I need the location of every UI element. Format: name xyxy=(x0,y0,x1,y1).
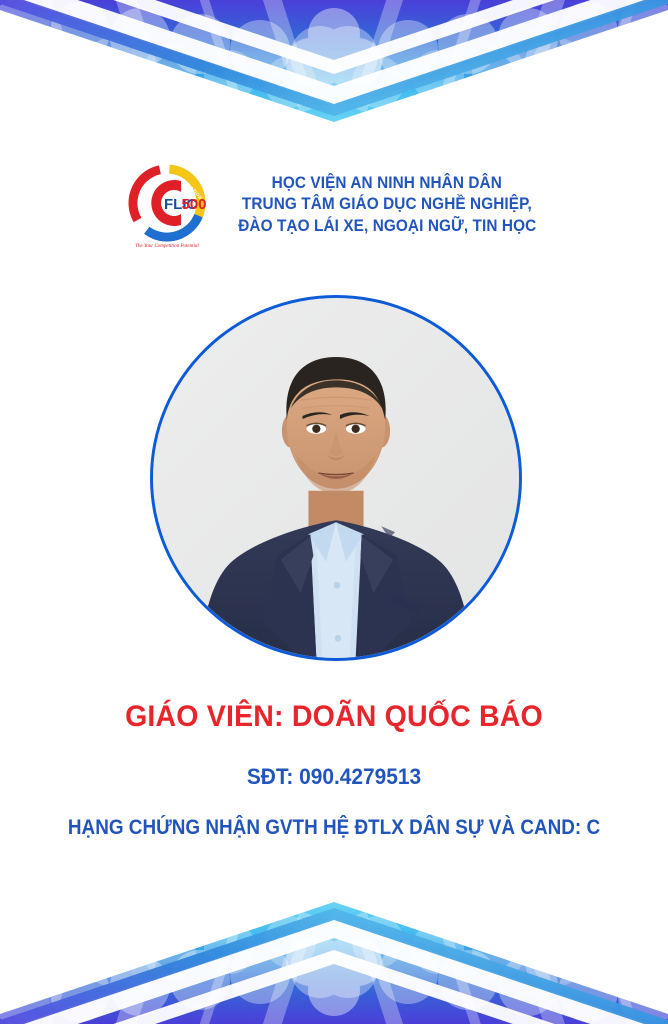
portrait-frame xyxy=(150,295,522,661)
flic500-logo: VOCATIONAL EDUCATION INFORMATION TECHNOL… xyxy=(121,159,213,251)
svg-text:The Your Competition Potential: The Your Competition Potential xyxy=(135,244,199,249)
decoration-top xyxy=(0,0,668,140)
svg-text:500: 500 xyxy=(181,196,206,213)
portrait-ring xyxy=(150,295,522,661)
phone-number: SĐT: 090.4279513 xyxy=(17,765,652,789)
org-line-3: ĐÀO TẠO LÁI XE, NGOẠI NGỮ, TIN HỌC xyxy=(238,216,536,237)
poster-canvas: VOCATIONAL EDUCATION INFORMATION TECHNOL… xyxy=(0,0,668,1024)
header: VOCATIONAL EDUCATION INFORMATION TECHNOL… xyxy=(0,150,668,260)
org-line-1: HỌC VIỆN AN NINH NHÂN DÂN xyxy=(272,173,502,194)
info-block: GIÁO VIÊN: DOÃN QUỐC BÁO SĐT: 090.427951… xyxy=(0,700,668,840)
teacher-name: GIÁO VIÊN: DOÃN QUỐC BÁO xyxy=(17,700,652,733)
decoration-bottom xyxy=(0,884,668,1024)
organization-title: HỌC VIỆN AN NINH NHÂN DÂN TRUNG TÂM GIÁO… xyxy=(227,173,548,236)
certification-rank: HẠNG CHỨNG NHẬN GVTH HỆ ĐTLX DÂN SỰ VÀ C… xyxy=(33,816,634,840)
org-line-2: TRUNG TÂM GIÁO DỤC NGHỀ NGHIỆP, xyxy=(242,194,532,215)
teacher-photo xyxy=(153,298,519,658)
